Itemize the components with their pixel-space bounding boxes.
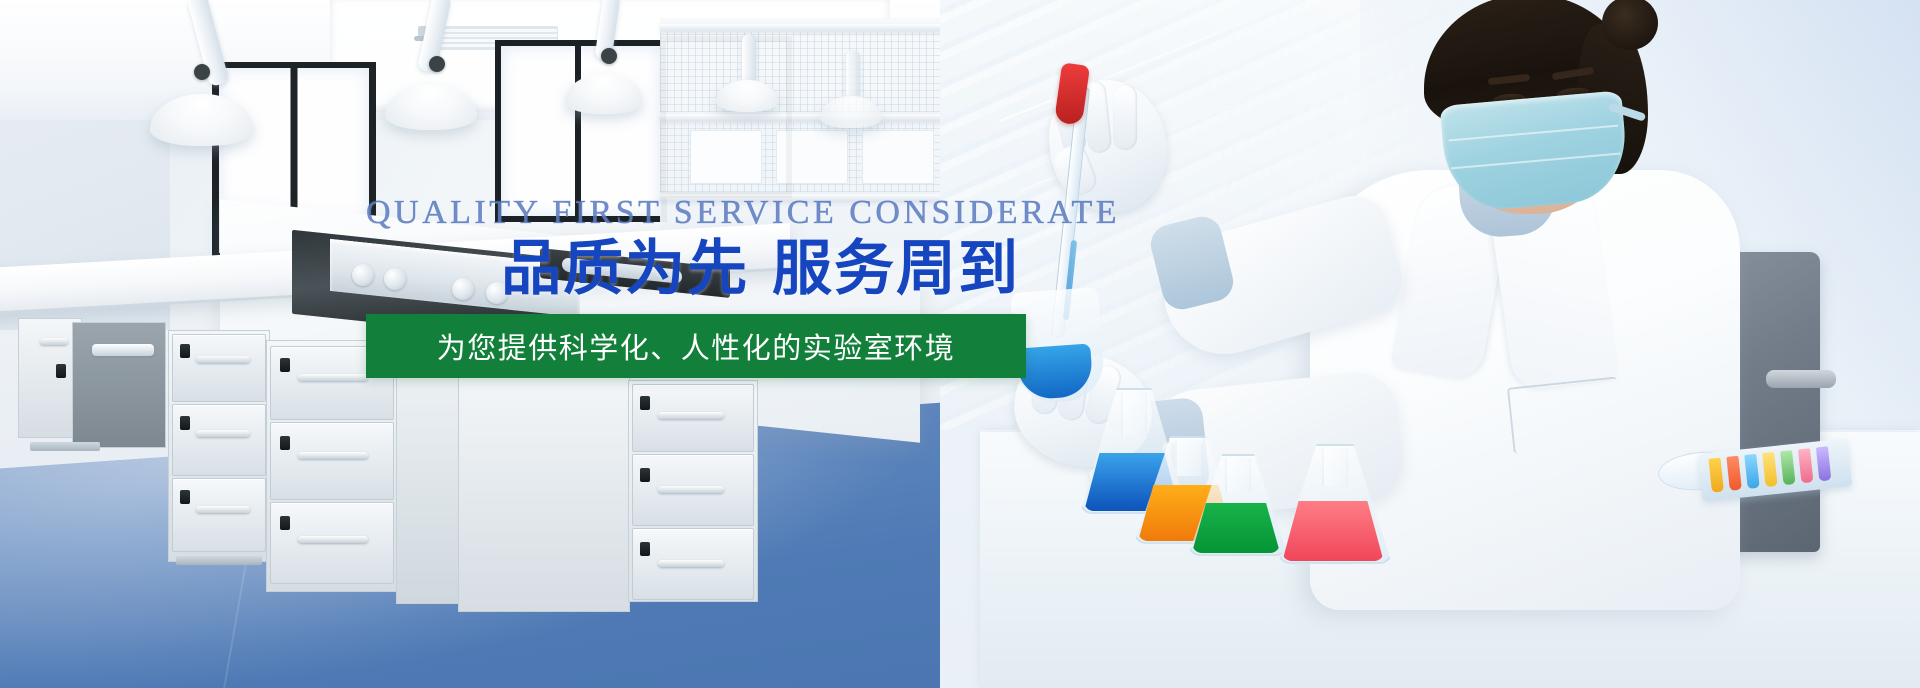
drawer-b3-handle bbox=[298, 536, 368, 543]
drawer-b2 bbox=[270, 422, 394, 500]
drawer-c1-lock-icon bbox=[640, 396, 650, 410]
drawer-c3-handle bbox=[658, 560, 724, 567]
flask-green-liquid bbox=[1192, 503, 1280, 553]
keyboard-tray-handle bbox=[92, 344, 154, 356]
lab-coat-pocket bbox=[1507, 376, 1623, 453]
drawer-stack-a-toe bbox=[176, 556, 262, 565]
flask-green bbox=[1188, 458, 1284, 556]
flask-pink bbox=[1278, 448, 1388, 564]
drawer-a3-lock-icon bbox=[180, 490, 190, 504]
drawer-b3-lock-icon bbox=[280, 516, 290, 530]
hero-text-block: QUALITY FIRST SERVICE CONSIDERATE 品质为先 服… bbox=[366, 196, 1026, 378]
drawer-a1-handle bbox=[196, 356, 250, 363]
lab-hero-banner: QUALITY FIRST SERVICE CONSIDERATE 品质为先 服… bbox=[0, 0, 1920, 688]
drawer-c1-handle bbox=[658, 412, 724, 419]
drawer-b1-handle bbox=[298, 374, 368, 381]
drawer-a2-lock-icon bbox=[180, 416, 190, 430]
drawer-b1-lock-icon bbox=[280, 358, 290, 372]
drawer-a2-handle bbox=[196, 430, 250, 437]
hair-bun bbox=[1602, 0, 1658, 50]
cabinet-left-open-bay bbox=[72, 322, 166, 448]
subtitle-text: 为您提供科学化、人性化的实验室环境 bbox=[437, 325, 956, 367]
flask-pink-liquid bbox=[1282, 501, 1383, 561]
cabinet-side-panel bbox=[396, 352, 460, 604]
cabinet-right-front bbox=[458, 366, 630, 612]
drawer-a2 bbox=[172, 404, 266, 476]
drawer-c2-handle bbox=[658, 486, 724, 493]
subtitle-banner: 为您提供科学化、人性化的实验室环境 bbox=[366, 314, 1026, 378]
drawer-b2-handle bbox=[298, 452, 368, 459]
drawer-c2-lock-icon bbox=[640, 468, 650, 482]
drawer-b2-lock-icon bbox=[280, 436, 290, 450]
drawer-c3-lock-icon bbox=[640, 542, 650, 556]
drawer-b3 bbox=[270, 502, 394, 584]
drawer-a1-lock-icon bbox=[180, 344, 190, 358]
english-tagline: QUALITY FIRST SERVICE CONSIDERATE bbox=[366, 196, 1026, 230]
cabinet-left-toe bbox=[30, 442, 100, 451]
cabinet-left-lock-icon bbox=[56, 364, 66, 378]
cabinet-left-handle bbox=[40, 338, 68, 345]
chair-armrest bbox=[1766, 370, 1836, 388]
headline: 品质为先 服务周到 bbox=[366, 236, 1026, 302]
drawer-a3-handle bbox=[196, 506, 250, 513]
